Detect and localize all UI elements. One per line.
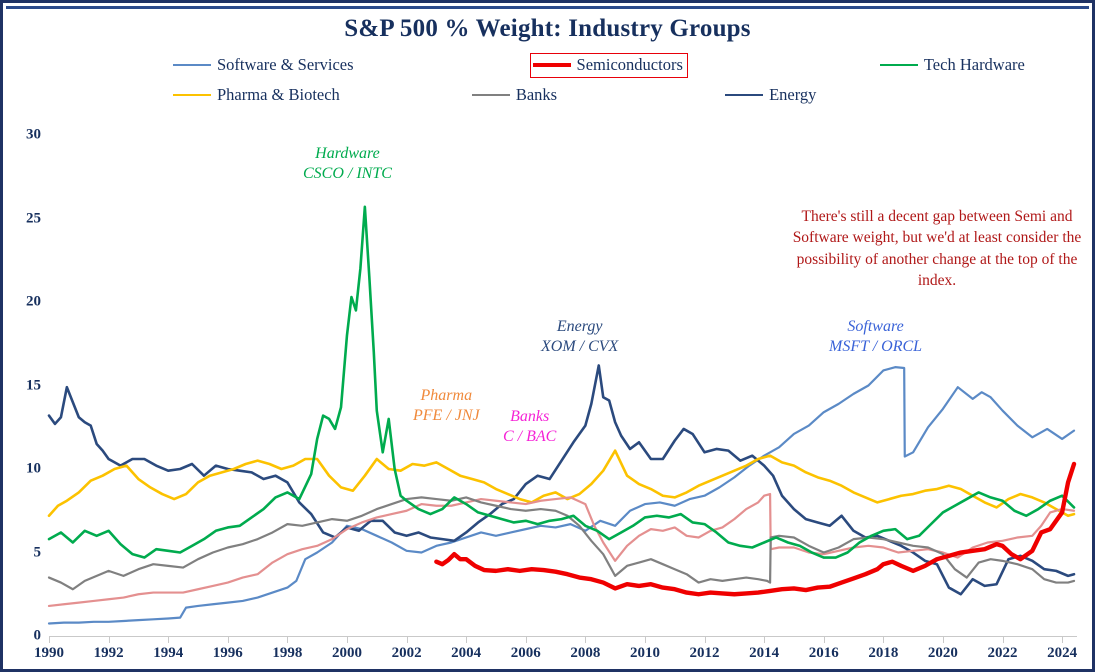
chart-frame: S&P 500 % Weight: Industry Groups Softwa… [0, 0, 1095, 672]
x-axis-tick-mark [883, 636, 884, 643]
legend-swatch-icon [880, 64, 918, 66]
legend-label: Semiconductors [577, 55, 683, 75]
legend-row: Software & ServicesSemiconductorsTech Ha… [173, 53, 933, 77]
annotation-line: Hardware [303, 144, 392, 164]
x-axis-tick-label: 2004 [451, 645, 481, 662]
series-canvas [49, 115, 1077, 636]
x-axis-tick-mark [466, 636, 467, 643]
legend-label: Software & Services [217, 55, 354, 75]
top-accent-rule [6, 6, 1089, 9]
legend-swatch-icon [173, 94, 211, 96]
legend-item-software-services[interactable]: Software & Services [173, 55, 354, 75]
x-axis-tick-mark [1062, 636, 1063, 643]
x-axis-tick-label: 2018 [868, 645, 898, 662]
pharma-annotation: PharmaPFE / JNJ [413, 386, 480, 426]
x-axis-tick-label: 1992 [94, 645, 124, 662]
x-axis-tick-mark [109, 636, 110, 643]
series-line-semiconductors [436, 464, 1074, 594]
x-axis-tick-mark [347, 636, 348, 643]
banks-annotation: BanksC / BAC [503, 407, 556, 447]
x-axis-tick-label: 2022 [988, 645, 1018, 662]
y-axis-tick-label: 5 [34, 544, 42, 561]
x-axis-tick-label: 1994 [153, 645, 183, 662]
x-axis-tick-label: 2016 [809, 645, 839, 662]
y-axis-tick-label: 15 [26, 377, 41, 394]
x-axis-tick-label: 2014 [749, 645, 779, 662]
annotation-line: Banks [503, 407, 556, 427]
x-axis-tick-mark [645, 636, 646, 643]
legend-swatch-icon [725, 94, 763, 96]
annotation-line: C / BAC [503, 427, 556, 447]
x-axis-tick-mark [287, 636, 288, 643]
legend-swatch-icon [173, 64, 211, 66]
x-axis-tick-mark [228, 636, 229, 643]
x-axis-tick-label: 2006 [511, 645, 541, 662]
x-axis-tick-mark [49, 636, 50, 643]
legend-item-tech-hardware[interactable]: Tech Hardware [880, 55, 1025, 75]
legend-label: Energy [769, 85, 816, 105]
legend-item-pharma-biotech[interactable]: Pharma & Biotech [173, 85, 340, 105]
y-axis-tick-label: 10 [26, 461, 41, 478]
annotation-line: PFE / JNJ [413, 406, 480, 426]
x-axis-tick-label: 2012 [690, 645, 720, 662]
x-axis-tick-mark [705, 636, 706, 643]
chart-legend: Software & ServicesSemiconductorsTech Ha… [173, 53, 933, 107]
x-axis-tick-label: 1998 [272, 645, 302, 662]
legend-swatch-icon [533, 63, 571, 67]
x-axis-tick-mark [824, 636, 825, 643]
y-axis-tick-label: 0 [34, 628, 42, 645]
x-axis-tick-mark [1003, 636, 1004, 643]
page-title: S&P 500 % Weight: Industry Groups [3, 15, 1092, 43]
x-axis-tick-label: 2020 [928, 645, 958, 662]
x-axis-tick-mark [407, 636, 408, 643]
legend-swatch-icon [472, 94, 510, 96]
hardware-annotation: HardwareCSCO / INTC [303, 144, 392, 184]
x-axis-line [49, 636, 1077, 637]
legend-label: Banks [516, 85, 557, 105]
x-axis-tick-label: 2008 [570, 645, 600, 662]
x-axis-tick-mark [585, 636, 586, 643]
x-axis-tick-label: 1996 [213, 645, 243, 662]
annotation-line: Energy [541, 317, 618, 337]
legend-item-banks[interactable]: Banks [472, 85, 557, 105]
y-axis-tick-label: 25 [26, 210, 41, 227]
x-axis-tick-mark [764, 636, 765, 643]
x-axis-tick-label: 1990 [34, 645, 64, 662]
x-axis-tick-label: 2000 [332, 645, 362, 662]
annotation-line: XOM / CVX [541, 337, 618, 357]
plot-area: 0510152025301990199219941996199820002002… [49, 115, 1077, 636]
legend-label: Tech Hardware [924, 55, 1025, 75]
x-axis-tick-mark [943, 636, 944, 643]
y-axis-tick-label: 20 [26, 294, 41, 311]
series-line-banks [49, 497, 1074, 589]
x-axis-tick-mark [168, 636, 169, 643]
energy-annotation: EnergyXOM / CVX [541, 317, 618, 357]
x-axis-tick-label: 2024 [1047, 645, 1077, 662]
x-axis-tick-mark [526, 636, 527, 643]
series-line-div-financials [49, 494, 1074, 606]
legend-item-semiconductors[interactable]: Semiconductors [530, 53, 688, 78]
legend-row: Pharma & BiotechBanksEnergy [173, 83, 933, 107]
software-annotation: SoftwareMSFT / ORCL [829, 317, 922, 357]
annotation-line: CSCO / INTC [303, 164, 392, 184]
red-commentary-note: There's still a decent gap between Semi … [792, 206, 1082, 292]
annotation-line: Software [829, 317, 922, 337]
annotation-line: Pharma [413, 386, 480, 406]
y-axis-tick-label: 30 [26, 127, 41, 144]
x-axis-tick-label: 2002 [392, 645, 422, 662]
annotation-line: MSFT / ORCL [829, 337, 922, 357]
legend-label: Pharma & Biotech [217, 85, 340, 105]
x-axis-tick-label: 2010 [630, 645, 660, 662]
legend-item-energy[interactable]: Energy [725, 85, 816, 105]
